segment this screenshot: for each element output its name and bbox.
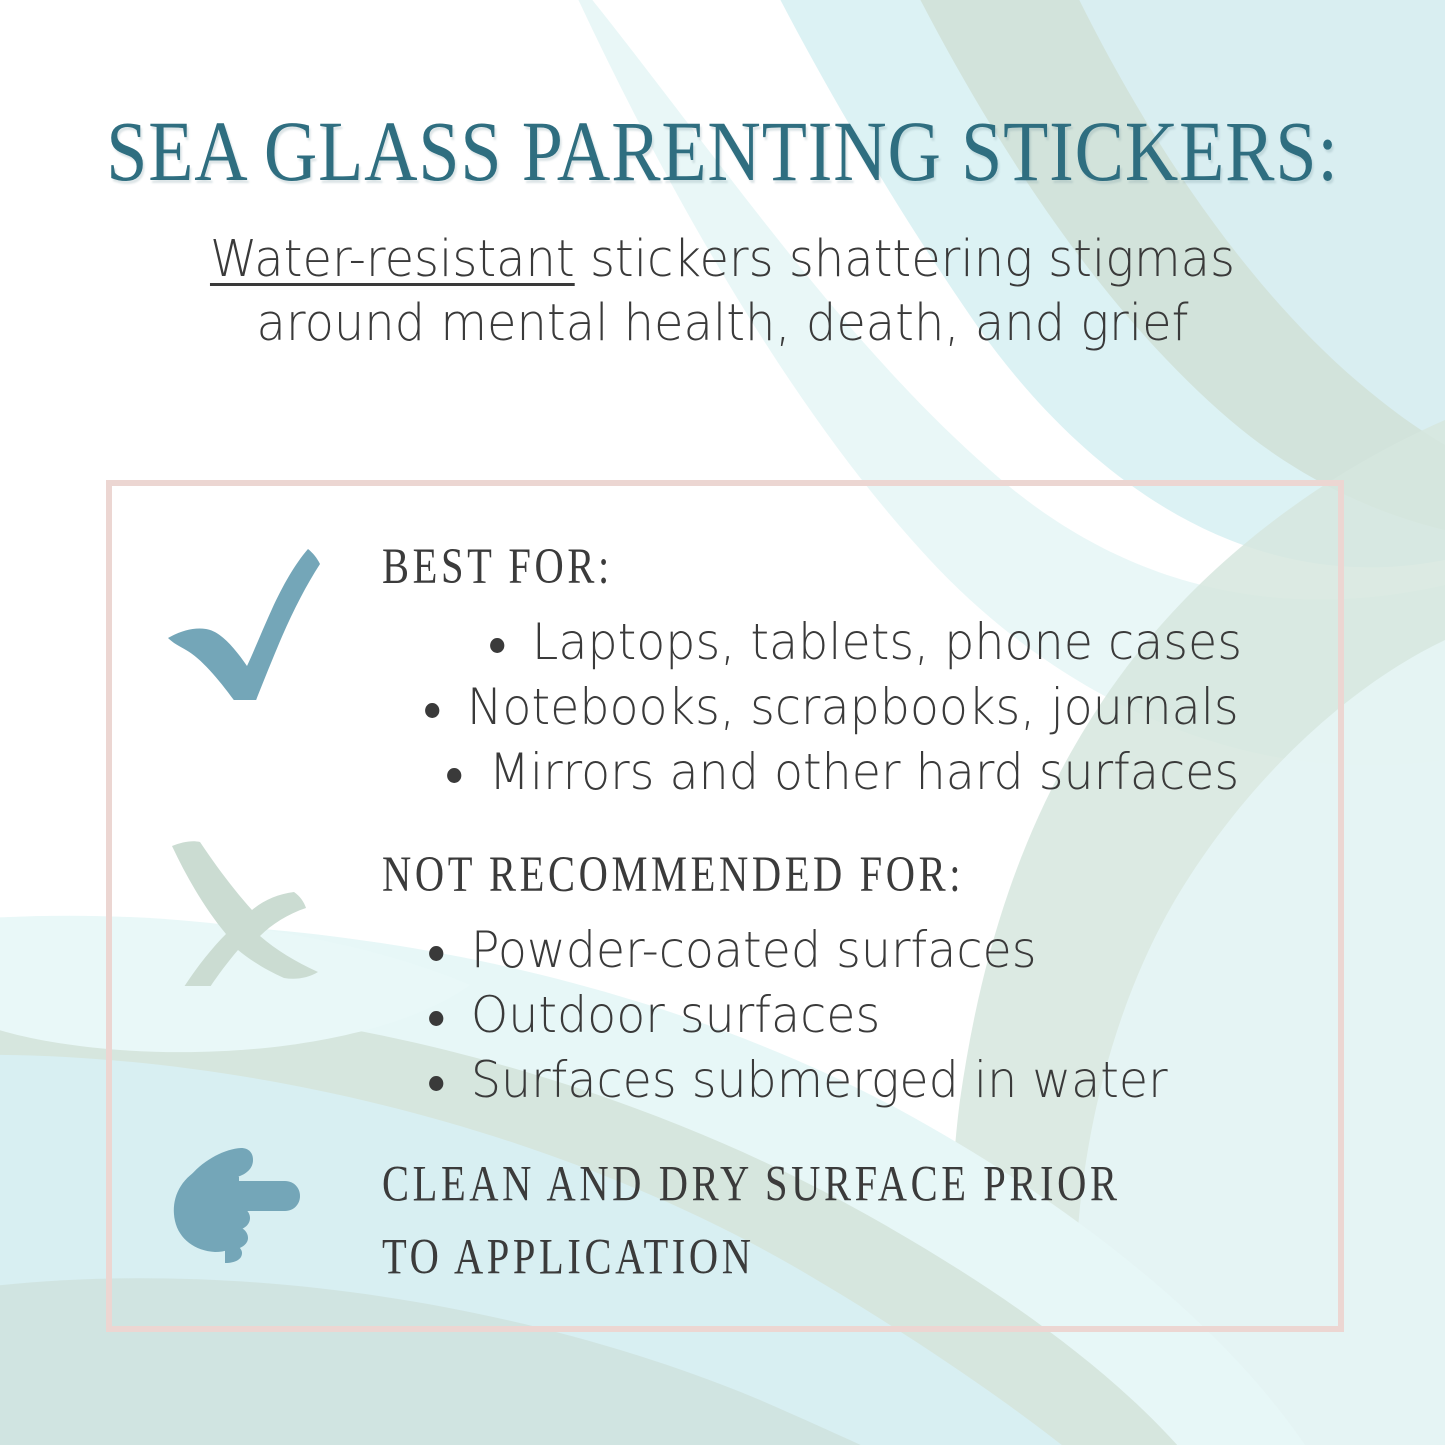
x-mark-icon	[160, 838, 335, 986]
page-title: SEA GLASS PARENTING STICKERS:	[101, 108, 1344, 194]
list-item: Notebooks, scrapbooks, journals	[408, 675, 1239, 740]
not-recommended-list: Powder-coated surfaces Outdoor surfaces …	[412, 918, 1207, 1113]
section-not-recommended: NOT RECOMMENDED FOR: Powder-coated surfa…	[382, 848, 1207, 1113]
best-for-list: Laptops, tablets, phone cases Notebooks,…	[382, 610, 1282, 805]
check-mark-icon	[150, 525, 330, 700]
application-note-line2: TO APPLICATION	[382, 1221, 1121, 1294]
subtitle-rest-text: stickers shattering stigmas	[575, 230, 1235, 289]
subtitle-line2-text: around mental health, death, and grief	[257, 294, 1189, 353]
subtitle-underlined-text: Water-resistant	[210, 230, 575, 289]
list-item: Powder-coated surfaces	[412, 918, 1168, 983]
list-item: Mirrors and other hard surfaces	[430, 740, 1239, 805]
section-best-for: BEST FOR: Laptops, tablets, phone cases …	[382, 540, 1282, 805]
list-item: Outdoor surfaces	[412, 983, 1168, 1048]
list-item: Surfaces submerged in water	[412, 1048, 1168, 1113]
section-application-note: CLEAN AND DRY SURFACE PRIOR TO APPLICATI…	[382, 1148, 1203, 1287]
section-heading-best-for: BEST FOR:	[382, 537, 1192, 595]
list-item: Laptops, tablets, phone cases	[473, 610, 1242, 675]
pointing-hand-icon	[163, 1143, 313, 1263]
page-subtitle: Water-resistant stickers shattering stig…	[156, 228, 1289, 356]
section-heading-not-recommended: NOT RECOMMENDED FOR:	[382, 845, 1125, 903]
poster-canvas: SEA GLASS PARENTING STICKERS: Water-resi…	[0, 0, 1445, 1445]
application-note-line1: CLEAN AND DRY SURFACE PRIOR	[382, 1148, 1121, 1221]
